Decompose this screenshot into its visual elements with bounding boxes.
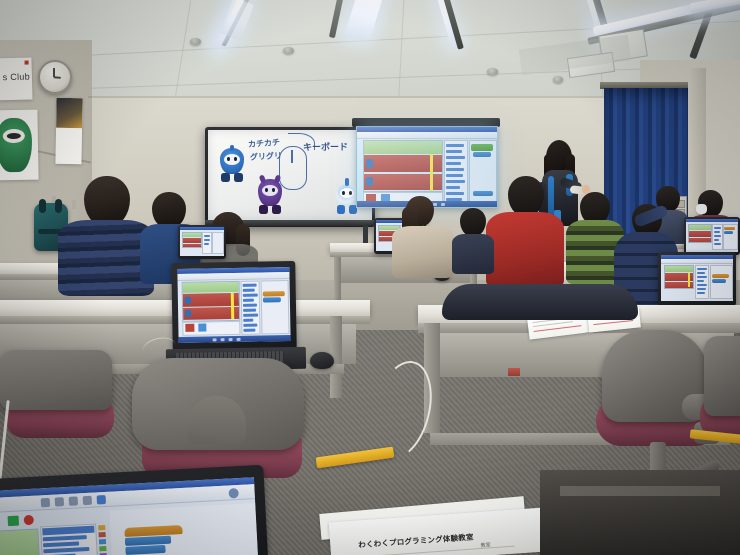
blue-mascot-magnet-left bbox=[218, 148, 246, 184]
handout-title: わくわくプログラミング体験教室 bbox=[358, 531, 474, 550]
photo-poster bbox=[55, 98, 82, 164]
whiteboard-text-drag: グリグリ bbox=[250, 150, 283, 163]
whiteboard-text-click: カチカチ bbox=[248, 137, 281, 150]
desk-cable-port bbox=[508, 368, 520, 376]
student-mid-dark bbox=[486, 176, 564, 288]
student-mid-small-right bbox=[452, 208, 494, 274]
poster-image bbox=[56, 98, 83, 128]
code-block-blue bbox=[263, 297, 281, 302]
green-mascot-icon bbox=[0, 118, 32, 173]
ceiling-speaker bbox=[190, 38, 201, 45]
purple-mascot-magnet-center bbox=[256, 179, 284, 217]
usb-mouse[interactable] bbox=[310, 352, 334, 369]
laptop-foreground bbox=[0, 465, 268, 555]
coat-on-chair bbox=[442, 284, 638, 320]
ceiling-speaker bbox=[553, 76, 563, 83]
chair-front-left[interactable] bbox=[0, 350, 120, 470]
ceiling-light bbox=[220, 0, 254, 41]
green-mascot-poster bbox=[0, 110, 39, 181]
ceiling-speaker bbox=[487, 68, 498, 75]
wall-sign-club: s Club bbox=[0, 57, 33, 100]
chair-lumbar bbox=[188, 396, 246, 444]
laptop-front-center bbox=[171, 261, 297, 351]
wall-sign-label: s Club bbox=[3, 72, 31, 83]
green-flag-icon[interactable] bbox=[8, 516, 20, 527]
code-block-orange bbox=[263, 291, 285, 296]
wall-clock bbox=[38, 60, 72, 94]
laptop-left-mid bbox=[178, 225, 226, 259]
ceiling-speaker bbox=[283, 47, 294, 54]
wall-rail bbox=[88, 96, 648, 98]
poster-caption-area bbox=[55, 128, 82, 164]
equipment-cart bbox=[540, 470, 740, 555]
ceiling-light-housing bbox=[329, 0, 343, 38]
laptop-mid-right bbox=[658, 252, 736, 306]
sign-pin bbox=[25, 61, 29, 65]
stop-icon[interactable] bbox=[24, 515, 35, 526]
classroom-photo: s Club bbox=[0, 0, 740, 555]
equipment-panel bbox=[560, 486, 720, 496]
face-mask bbox=[696, 204, 707, 214]
student-mid-left-beige bbox=[392, 196, 454, 278]
laptop-back-right bbox=[684, 217, 740, 255]
ceiling-light bbox=[344, 0, 386, 41]
whiteboard-text-keyboard: キーボード bbox=[303, 140, 348, 153]
